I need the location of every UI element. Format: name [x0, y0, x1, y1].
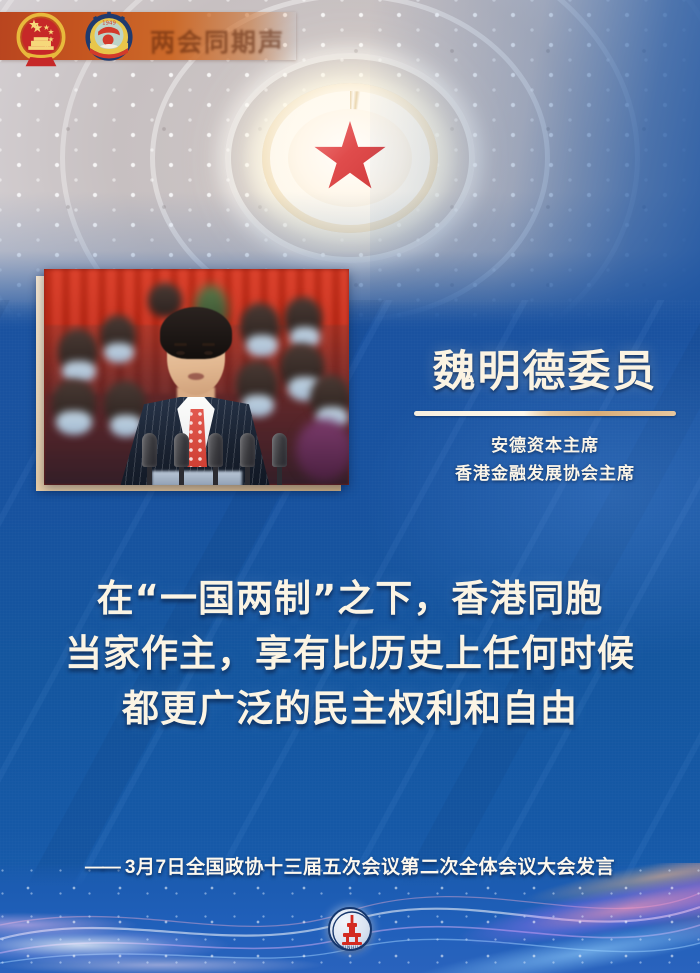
poster-root: 1949 两会同期声: [0, 0, 700, 973]
gold-divider: [414, 411, 676, 416]
national-emblem-of-china-icon: [12, 10, 70, 68]
microphone-icon: [174, 433, 189, 485]
speaker-name: 魏明德委员: [400, 348, 690, 397]
quote-block: 在“一国两制”之下，香港同胞 当家作主，享有比历史上任何时候 都更广泛的民主权利…: [0, 572, 700, 736]
speaker-titles: 安德资本主席 香港金融发展协会主席: [400, 432, 690, 486]
caption-dash: ——: [85, 857, 119, 878]
banner-title-text: 两会同期声: [150, 22, 285, 58]
microphone-icon: [240, 433, 255, 485]
speaker-title-2: 香港金融发展协会主席: [400, 460, 690, 487]
speaker-eye: [204, 351, 213, 355]
microphone-icon: [272, 433, 287, 485]
audience-figure: [296, 419, 349, 481]
cppcc-emblem-icon: 1949: [80, 10, 138, 68]
quote-line-1: 在“一国两制”之下，香港同胞: [0, 572, 700, 627]
quote-line-3: 都更广泛的民主权利和自由: [0, 682, 700, 737]
microphone-icon: [142, 433, 157, 485]
audience-mask: [56, 411, 92, 435]
banner-title: 两会同期声: [150, 20, 300, 60]
speaker-eye: [176, 351, 185, 355]
xinhua-logo-text: XINHUA: [341, 945, 363, 951]
microphone-icon: [208, 433, 223, 485]
speaker-name-block: 魏明德委员 安德资本主席 香港金融发展协会主席: [400, 348, 690, 487]
audience-mask: [246, 335, 278, 357]
podium: [152, 471, 242, 485]
xinhua-logo-svg: XINHUA: [330, 909, 374, 953]
header: 1949 两会同期声: [0, 0, 700, 78]
xinhua-news-agency-logo-icon: XINHUA: [328, 907, 372, 951]
caption-text: 3月7日全国政协十三届五次会议第二次全体会议大会发言: [125, 857, 615, 878]
speaker-hair: [160, 307, 232, 359]
speaker-brow: [174, 343, 187, 346]
speaker-photo: [44, 269, 349, 485]
source-caption: ——3月7日全国政协十三届五次会议第二次全体会议大会发言: [0, 852, 700, 879]
speaker-title-1: 安德资本主席: [400, 432, 690, 459]
speaker-mouth: [188, 373, 204, 380]
quote-line-2: 当家作主，享有比历史上任何时候: [0, 627, 700, 682]
audience-mask: [104, 343, 134, 363]
speaker-brow: [202, 343, 215, 346]
svg-text:1949: 1949: [102, 21, 116, 27]
